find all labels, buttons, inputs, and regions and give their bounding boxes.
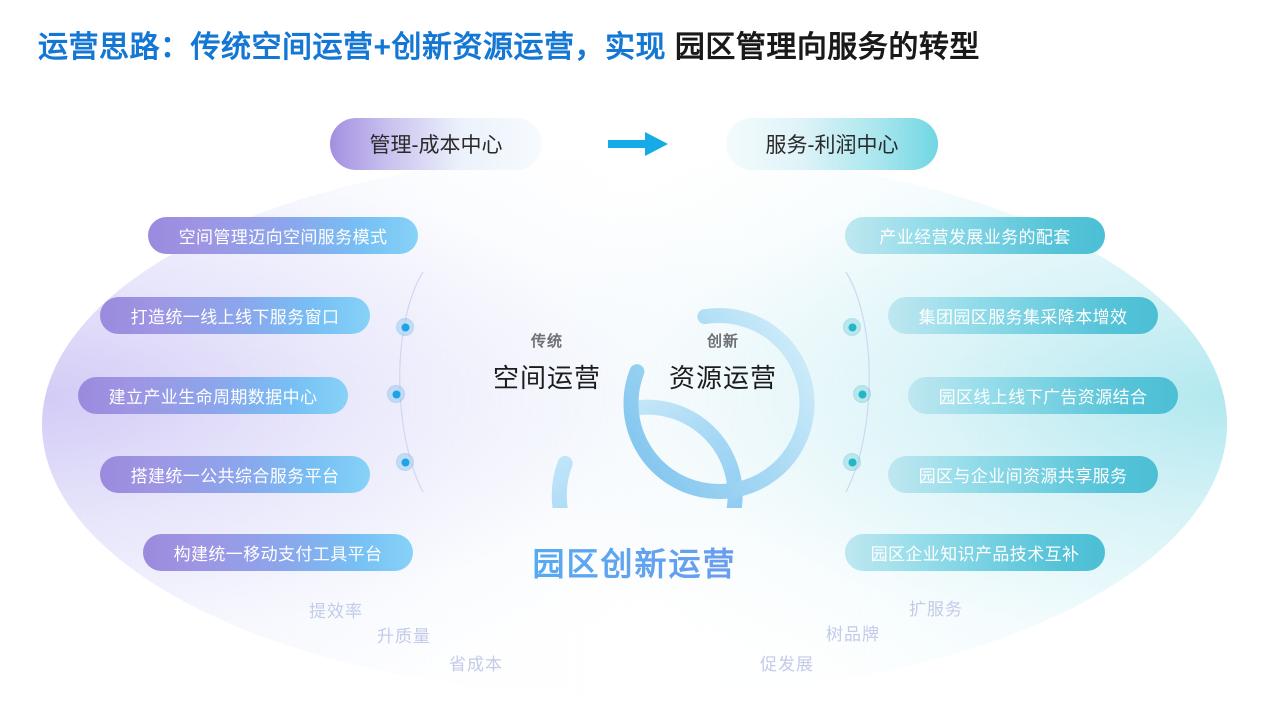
loop-right-main: 资源运营 [630,358,816,395]
keyword-right-2: 树品牌 [826,620,880,645]
node-dot-right-2 [855,387,870,402]
right-item-2[interactable]: 集团园区服务集采降本增效 [888,297,1158,334]
loop-left-main: 空间运营 [454,358,640,395]
left-item-1[interactable]: 空间管理迈向空间服务模式 [148,217,418,254]
left-item-2[interactable]: 打造统一线上线下服务窗口 [100,297,370,334]
keyword-left-1: 提效率 [309,597,363,622]
node-dot-left-2 [389,387,404,402]
loop-right-kicker: 创新 [630,330,816,351]
page-title-blue: 运营思路：传统空间运营+创新资源运营，实现 [38,31,666,64]
left-item-4[interactable]: 搭建统一公共综合服务平台 [100,456,370,493]
right-item-4[interactable]: 园区与企业间资源共享服务 [888,456,1158,493]
node-dot-left-3 [398,455,413,470]
page-title-black: 园区管理向服务的转型 [666,31,980,64]
loop-left-kicker: 传统 [454,330,640,351]
keyword-right-1: 扩服务 [909,595,963,620]
node-dot-right-3 [845,455,860,470]
top-pill-management[interactable]: 管理-成本中心 [330,118,542,170]
keyword-right-3: 促发展 [760,650,814,675]
arrow-right-icon [607,131,669,157]
left-item-3[interactable]: 建立产业生命周期数据中心 [78,377,348,414]
loop-right-label: 创新 资源运营 [630,330,816,395]
infinity-loop-graphic: 传统 空间运营 创新 资源运营 [430,272,840,508]
page-title: 运营思路：传统空间运营+创新资源运营，实现 园区管理向服务的转型 [38,22,980,66]
node-dot-right-1 [845,320,860,335]
center-headline: 园区创新运营 [0,539,1269,585]
loop-left-label: 传统 空间运营 [454,330,640,395]
keyword-left-3: 省成本 [449,650,503,675]
keyword-left-2: 升质量 [377,622,431,647]
node-dot-left-1 [398,320,413,335]
right-item-1[interactable]: 产业经营发展业务的配套 [845,217,1105,254]
top-pill-service[interactable]: 服务-利润中心 [726,118,938,170]
right-item-3[interactable]: 园区线上线下广告资源结合 [908,377,1178,414]
